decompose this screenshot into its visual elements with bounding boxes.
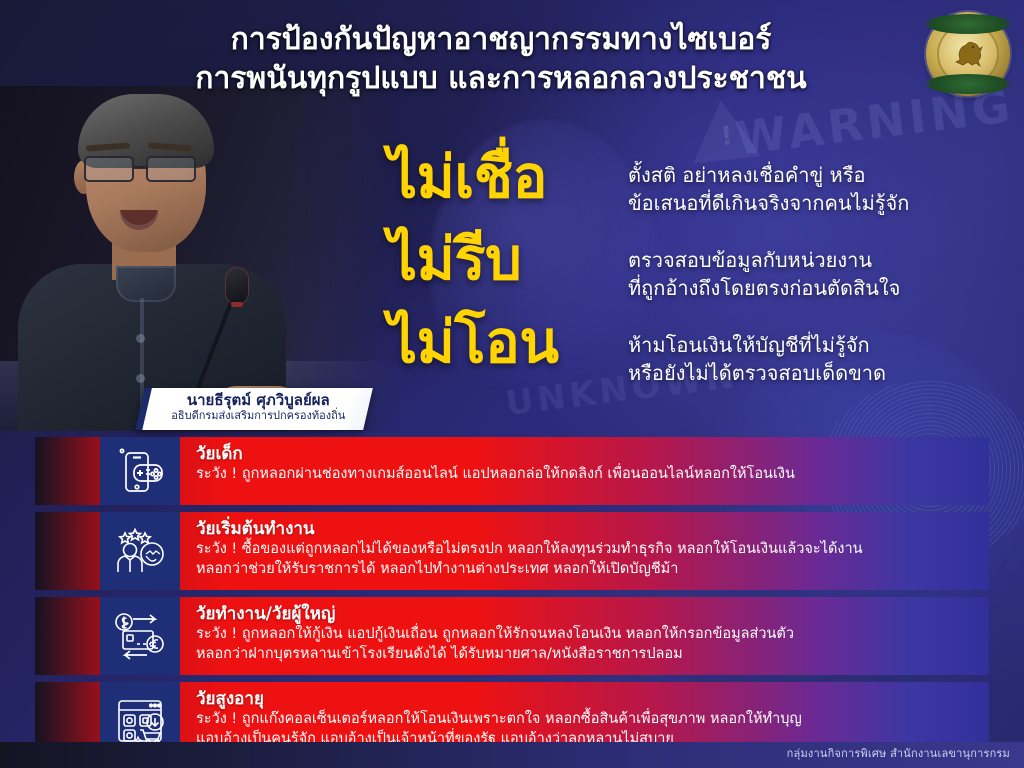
suit-button-2 <box>136 374 145 383</box>
age-group-heading: วัยเด็ก <box>196 444 975 465</box>
age-group-row-working-adult: วัยทำงาน/วัยผู้ใหญ่ ระวัง ! ถูกหลอกให้กู… <box>35 597 989 675</box>
suit-button-1 <box>136 334 145 343</box>
slogan-1: ไม่เชื่อ <box>388 136 620 218</box>
row-text: วัยเด็ก ระวัง ! ถูกหลอกผ่านช่องทางเกมส์อ… <box>180 437 989 505</box>
age-group-row-early-career: วัยเริ่มต้นทำงาน ระวัง ! ซื้อของแต่ถูกหล… <box>35 512 989 590</box>
description-1: ตั้งสติ อย่าหลงเชื่อคำขู่ หรือ ข้อเสนอที… <box>628 162 1020 217</box>
microphone-indicator <box>231 302 243 307</box>
microphone-icon <box>226 268 248 304</box>
age-group-body-line-1: ระวัง ! ถูกแก๊งคอลเซ็นเตอร์หลอกให้โอนเงิ… <box>196 710 975 729</box>
age-group-body-line-1: ระวัง ! ซื้อของแต่ถูกหลอกไม่ได้ของหรือไม… <box>196 540 975 559</box>
lion-emblem-icon <box>952 38 986 70</box>
row-text: วัยเริ่มต้นทำงาน ระวัง ! ซื้อของแต่ถูกหล… <box>180 512 989 590</box>
smartphone-gamepad-icon <box>100 437 180 505</box>
age-group-heading: วัยเริ่มต้นทำงาน <box>196 519 975 540</box>
slogan-list: ไม่เชื่อ ไม่รีบ ไม่โอน <box>388 136 620 383</box>
row-text: วัยทำงาน/วัยผู้ใหญ่ ระวัง ! ถูกหลอกให้กู… <box>180 597 989 675</box>
speaker-nameplate: นายธีรุตม์ ศุภวิบูลย์ผล อธิบดีกรมส่งเสริ… <box>135 388 373 430</box>
warning-triangle-icon <box>687 97 761 164</box>
age-group-body: ระวัง ! ถูกหลอกผ่านช่องทางเกมส์ออนไลน์ แ… <box>196 465 975 484</box>
description-3-line-2: หรือยังไม่ได้ตรวจสอบเด็ดขาด <box>628 360 1020 388</box>
age-group-body: ระวัง ! ถูกหลอกให้กู้เงิน แอปกู้เงินเถื่… <box>196 625 975 664</box>
description-2-line-2: ที่ถูกอ้างถึงโดยตรงก่อนตัดสินใจ <box>628 275 1020 303</box>
age-group-heading: วัยสูงอายุ <box>196 689 975 710</box>
description-1-line-2: ข้อเสนอที่ดีเกินจริงจากคนไม่รู้จัก <box>628 190 1020 218</box>
age-group-body: ระวัง ! ซื้อของแต่ถูกหลอกไม่ได้ของหรือไม… <box>196 540 975 579</box>
infographic-poster: WARNING UNKNOWN <box>0 0 1024 768</box>
age-group-body-line-1: ระวัง ! ถูกหลอกผ่านช่องทางเกมส์ออนไลน์ แ… <box>196 465 975 484</box>
description-1-line-1: ตั้งสติ อย่าหลงเชื่อคำขู่ หรือ <box>628 162 1020 190</box>
title-line-2: การพนันทุกรูปแบบ และการหลอกลวงประชาชน <box>96 59 906 98</box>
description-2: ตรวจสอบข้อมูลกับหน่วยงาน ที่ถูกอ้างถึงโด… <box>628 247 1020 302</box>
description-3-line-1: ห้ามโอนเงินให้บัญชีที่ไม่รู้จัก <box>628 332 1020 360</box>
age-group-heading: วัยทำงาน/วัยผู้ใหญ่ <box>196 604 975 625</box>
title-line-1: การป้องกันปัญหาอาชญากรรมทางไซเบอร์ <box>231 22 772 57</box>
footer-credit: กลุ่มงานกิจการพิเศษ สำนักงานเลขานุการกรม <box>787 744 1010 762</box>
age-group-body-line-2: หลอกว่าฝากบุตรหลานเข้าโรงเรียนดังได้ ได้… <box>196 645 975 664</box>
slogan-3: ไม่โอน <box>388 301 620 383</box>
speaker-name: นายธีรุตม์ ศุภวิบูลย์ผล <box>148 392 369 409</box>
description-list: ตั้งสติ อย่าหลงเชื่อคำขู่ หรือ ข้อเสนอที… <box>628 162 1020 418</box>
speaker-collar <box>116 266 176 302</box>
speaker-photo <box>0 86 400 431</box>
page-title: การป้องกันปัญหาอาชญากรรมทางไซเบอร์ การพน… <box>96 20 906 98</box>
speaker-glasses-icon <box>84 156 208 182</box>
description-3: ห้ามโอนเงินให้บัญชีที่ไม่รู้จัก หรือยังไ… <box>628 332 1020 387</box>
money-transfer-icon <box>100 597 180 675</box>
age-group-body-line-2: หลอกว่าช่วยให้รับราชการได้ หลอกไปทำงานต่… <box>196 560 975 579</box>
businessman-handshake-icon <box>100 512 180 590</box>
speaker-role: อธิบดีกรมส่งเสริมการปกครองท้องถิ่น <box>148 409 369 423</box>
age-group-body-line-1: ระวัง ! ถูกหลอกให้กู้เงิน แอปกู้เงินเถื่… <box>196 625 975 644</box>
description-2-line-1: ตรวจสอบข้อมูลกับหน่วยงาน <box>628 247 1020 275</box>
slogan-2: ไม่รีบ <box>388 218 620 300</box>
department-seal-icon <box>926 12 1010 96</box>
age-group-row-children: วัยเด็ก ระวัง ! ถูกหลอกผ่านช่องทางเกมส์อ… <box>35 437 989 505</box>
